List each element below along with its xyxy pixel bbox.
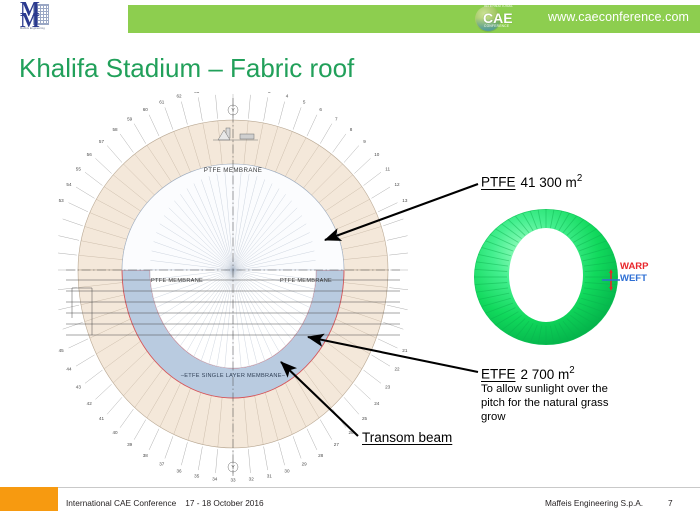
radial-number-label: 33	[230, 478, 236, 482]
radial-number-label: 30	[284, 469, 290, 474]
footer-page-number: 7	[668, 498, 673, 508]
radial-number-label: 63	[194, 92, 200, 94]
svg-text:PTFE MEMBRANE: PTFE MEMBRANE	[151, 278, 203, 284]
callout-etfe-unit-exponent: 2	[569, 365, 574, 376]
warp-weft-legend: WARP WEFT	[620, 261, 649, 285]
radial-number-label: 3	[268, 92, 271, 94]
radial-number-label: 36	[176, 469, 182, 474]
radial-number-label: 5	[303, 99, 306, 104]
radial-number-label: 43	[76, 384, 82, 389]
callout-ptfe-tag: PTFE	[481, 175, 516, 190]
radial-number-label: 32	[249, 477, 255, 482]
svg-text:–ETFE SINGLE LAYER MEMBRANE–: –ETFE SINGLE LAYER MEMBRANE–	[181, 373, 286, 379]
radial-number-label: 9	[363, 139, 366, 144]
radial-number-label: 29	[302, 462, 308, 467]
radial-number-label: 58	[112, 127, 118, 132]
svg-text:PTFE MEMBRANE: PTFE MEMBRANE	[280, 278, 332, 284]
radial-number-label: 12	[394, 182, 400, 187]
radial-number-label: 42	[87, 401, 93, 406]
logo-letter-m-bottom: M	[20, 14, 39, 26]
footer-company: Maffeis Engineering S.p.A.	[545, 498, 643, 508]
radial-number-label: 27	[334, 442, 340, 447]
warp-label: WARP	[620, 261, 649, 273]
maffeis-engineering-logo: M M Maffeis Engineering	[20, 3, 50, 33]
radial-number-label: 7	[335, 116, 338, 121]
radial-number-label: 10	[374, 152, 380, 157]
cae-conference-logo: INTERNATIONAL CAE CONFERENCE	[473, 2, 515, 34]
radial-number-label: 62	[176, 93, 182, 98]
radial-number-label: 28	[318, 453, 324, 458]
cae-logo-top-text: INTERNATIONAL	[484, 4, 516, 8]
callout-etfe: ETFE2 700 m2 To allow sunlight over the …	[481, 365, 633, 425]
logo-subtitle: Maffeis Engineering	[20, 27, 50, 30]
svg-text:Y: Y	[231, 465, 235, 471]
radial-number-label: 38	[143, 453, 149, 458]
footer-accent-block	[0, 487, 58, 511]
svg-text:Y: Y	[231, 108, 235, 114]
radial-number-label: 61	[159, 99, 165, 104]
callout-etfe-value: 2 700 m	[521, 367, 570, 382]
radial-number-label: 59	[127, 116, 133, 121]
radial-number-label: 26	[348, 430, 354, 435]
radial-number-label: 54	[66, 182, 72, 187]
svg-text:PTFE MEMBRANE: PTFE MEMBRANE	[204, 167, 263, 174]
radial-number-label: 39	[127, 442, 133, 447]
callout-ptfe-value: 41 300 m	[521, 175, 577, 190]
radial-number-label: 44	[66, 367, 72, 372]
khalifa-stadium-roof-plan: 1234567891011121314151617181920212223242…	[58, 92, 408, 482]
conference-url[interactable]: www.caeconference.com	[548, 10, 689, 24]
radial-number-label: 60	[143, 107, 149, 112]
footer-divider	[0, 487, 700, 488]
torus-body	[473, 208, 619, 346]
radial-number-label: 35	[194, 474, 200, 479]
radial-number-label: 57	[99, 139, 105, 144]
weft-label: WEFT	[620, 273, 649, 285]
ptfe-membrane-3d-torus	[468, 205, 628, 360]
radial-number-label: 41	[99, 416, 105, 421]
callout-transom-label: Transom beam	[362, 430, 452, 445]
radial-number-label: 4	[286, 93, 289, 98]
radial-number-label: 31	[267, 474, 273, 479]
slide-header: M M Maffeis Engineering INTERNATIONAL CA…	[0, 0, 700, 36]
radial-number-label: 11	[385, 166, 390, 171]
radial-number-label: 8	[350, 127, 353, 132]
radial-number-label: 37	[159, 462, 165, 467]
radial-number-label: 53	[59, 198, 65, 203]
callout-etfe-description: To allow sunlight over the pitch for the…	[481, 383, 633, 424]
footer-conference-dates: 17 - 18 October 2016	[185, 498, 263, 508]
radial-number-label: 6	[319, 107, 322, 112]
radial-number-label: 45	[59, 348, 65, 353]
cae-logo-bottom-text: CONFERENCE	[484, 24, 516, 28]
radial-number-label: 21	[402, 348, 408, 353]
callout-etfe-tag: ETFE	[481, 367, 516, 382]
callout-ptfe-unit-exponent: 2	[577, 173, 582, 184]
radial-number-label: 23	[385, 384, 391, 389]
radial-number-label: 13	[402, 198, 408, 203]
radial-number-label: 56	[87, 152, 93, 157]
radial-number-label: 25	[362, 416, 368, 421]
radial-number-label: 34	[212, 477, 218, 482]
radial-number-label: 55	[76, 166, 82, 171]
radial-number-label: 40	[112, 430, 118, 435]
page-title: Khalifa Stadium – Fabric roof	[19, 53, 354, 84]
radial-number-label: 24	[374, 401, 380, 406]
callout-transom: Transom beam	[362, 430, 452, 446]
footer-conference-name: International CAE Conference	[66, 498, 176, 508]
callout-ptfe: PTFE41 300 m2	[481, 173, 582, 190]
footer-conference-info: International CAE Conference17 - 18 Octo…	[66, 498, 264, 508]
radial-number-label: 22	[394, 367, 400, 372]
